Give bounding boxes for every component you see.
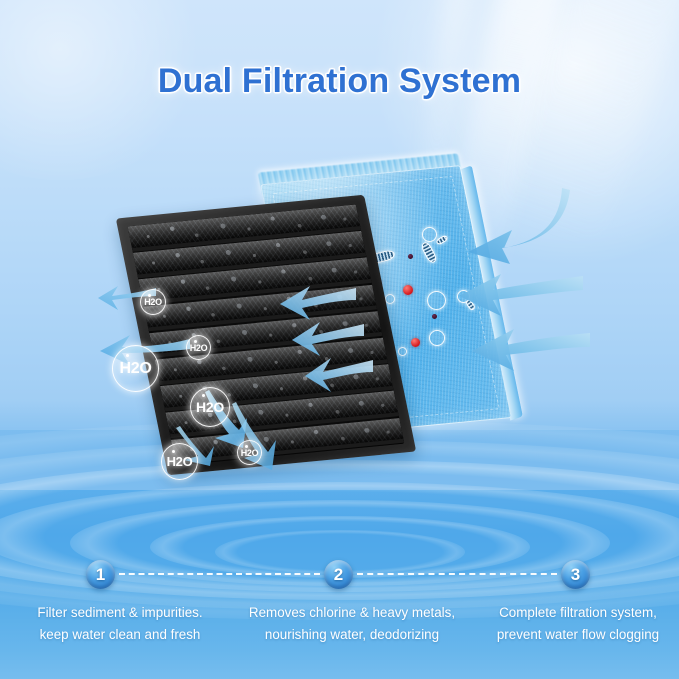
bubble-highlight-icon	[245, 445, 248, 448]
germ-particle	[429, 330, 445, 346]
step-caption-line-2: prevent water flow clogging	[239, 624, 679, 646]
bubble-highlight-icon	[172, 450, 175, 453]
germ-particle	[408, 254, 413, 259]
h2o-bubble: H2O	[112, 345, 159, 392]
germ-particle	[398, 347, 407, 356]
h2o-bubble: H2O	[140, 289, 166, 315]
germ-particle	[432, 314, 437, 319]
h2o-bubble: H2O	[190, 387, 230, 427]
inflow-arrow-1	[452, 186, 572, 264]
germ-particle	[422, 227, 437, 242]
step-connector-line	[357, 573, 557, 575]
step-connector-line	[119, 573, 320, 575]
step-number-label: 2	[334, 565, 343, 585]
h2o-bubble-label: H2O	[120, 360, 152, 378]
bubble-highlight-icon	[194, 340, 197, 343]
h2o-bubble-label: H2O	[196, 399, 224, 415]
h2o-bubble-label: H2O	[190, 343, 208, 353]
h2o-bubble-label: H2O	[241, 448, 259, 458]
step-number-1: 1	[86, 560, 115, 589]
germ-particle	[385, 294, 395, 304]
step-number-label: 1	[96, 565, 105, 585]
steps-section: 1Filter sediment & impurities.keep water…	[0, 540, 679, 679]
transfer-arrow-2	[292, 320, 366, 360]
transfer-arrow-3	[305, 356, 375, 396]
h2o-bubble: H2O	[161, 443, 198, 480]
inflow-arrow-2	[455, 270, 585, 322]
step-caption-line-1: Complete filtration system,	[239, 602, 679, 624]
germ-particle	[411, 338, 420, 347]
product-illustration: H2OH2OH2OH2OH2OH2O	[0, 0, 679, 520]
h2o-bubble-label: H2O	[167, 454, 193, 469]
algae-particle	[427, 291, 446, 310]
step-number-label: 3	[571, 565, 580, 585]
h2o-bubble: H2O	[186, 335, 211, 360]
inflow-arrow-3	[470, 325, 592, 377]
bubble-highlight-icon	[202, 394, 205, 397]
illustration-scene: Dual Filtration System	[0, 0, 679, 679]
germ-particle	[403, 285, 413, 295]
step-number-3: 3	[561, 560, 590, 589]
step-number-2: 2	[324, 560, 353, 589]
step-caption-3: Complete filtration system,prevent water…	[239, 602, 679, 646]
h2o-bubble: H2O	[237, 440, 262, 465]
bubble-highlight-icon	[126, 354, 129, 357]
h2o-bubble-label: H2O	[144, 297, 162, 307]
